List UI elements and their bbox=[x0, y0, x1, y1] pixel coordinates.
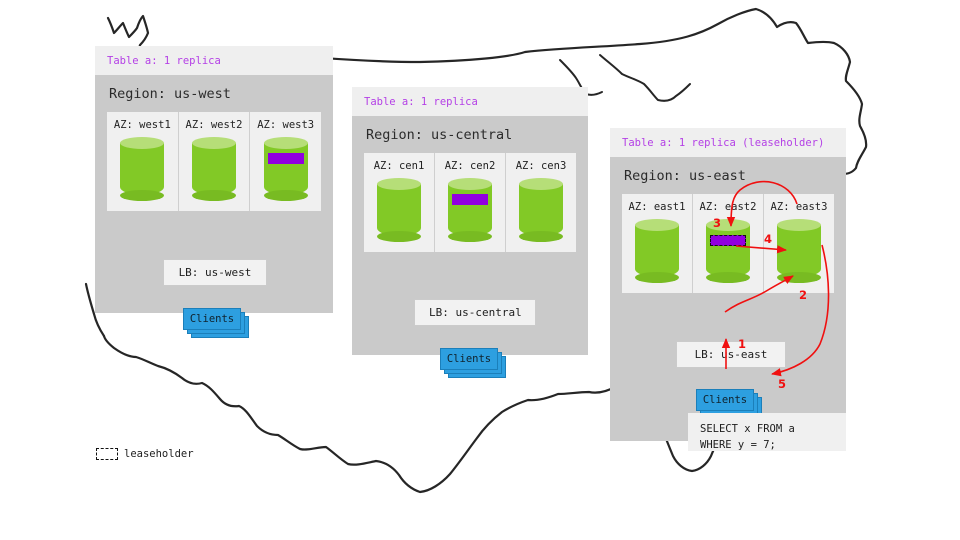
legend-label: leaseholder bbox=[124, 448, 194, 460]
cylinder-body bbox=[120, 143, 164, 195]
cylinder-body bbox=[192, 143, 236, 195]
leaseholder-marker-cen2 bbox=[452, 194, 488, 205]
cylinder-bottom bbox=[377, 231, 421, 242]
cylinder-body bbox=[377, 184, 421, 236]
panel-header-us-east: Table a: 1 replica (leaseholder) bbox=[610, 128, 846, 157]
az-label-east1: AZ: east1 bbox=[622, 201, 692, 213]
legend: leaseholder bbox=[96, 448, 194, 460]
cylinder-top bbox=[777, 219, 821, 231]
node-cylinder-cen3[interactable] bbox=[519, 178, 563, 242]
cylinder-body bbox=[264, 143, 308, 195]
cylinder-bottom bbox=[264, 190, 308, 201]
az-label-west3: AZ: west3 bbox=[250, 119, 321, 131]
az-label-cen1: AZ: cen1 bbox=[364, 160, 434, 172]
node-cylinder-cen1[interactable] bbox=[377, 178, 421, 242]
leaseholder-marker-west3 bbox=[268, 153, 304, 164]
table-replica-label-us-central: Table a: 1 replica bbox=[364, 96, 576, 108]
node-cylinder-east1[interactable] bbox=[635, 219, 679, 283]
az-cell-east3[interactable]: AZ: east3 bbox=[763, 194, 834, 293]
clients-stack-us-east[interactable]: Clients bbox=[696, 389, 758, 413]
panel-header-us-west: Table a: 1 replica bbox=[95, 46, 333, 75]
region-title-us-west: Region: us-west bbox=[95, 75, 333, 112]
step-label-3: 3 bbox=[713, 216, 721, 230]
az-label-west2: AZ: west2 bbox=[179, 119, 250, 131]
az-cell-west3[interactable]: AZ: west3 bbox=[249, 112, 321, 211]
node-cylinder-cen2[interactable] bbox=[448, 178, 492, 242]
clients-label-us-east[interactable]: Clients bbox=[696, 389, 754, 411]
az-label-cen2: AZ: cen2 bbox=[435, 160, 505, 172]
node-cylinder-west3[interactable] bbox=[264, 137, 308, 201]
load-balancer-us-central[interactable]: LB: us-central bbox=[414, 299, 536, 326]
node-cylinder-west2[interactable] bbox=[192, 137, 236, 201]
step-label-2: 2 bbox=[799, 288, 807, 302]
cylinder-body bbox=[777, 225, 821, 277]
cylinder-bottom bbox=[706, 272, 750, 283]
cylinder-bottom bbox=[519, 231, 563, 242]
az-label-west1: AZ: west1 bbox=[107, 119, 178, 131]
cylinder-top bbox=[192, 137, 236, 149]
node-cylinder-west1[interactable] bbox=[120, 137, 164, 201]
clients-label-us-west[interactable]: Clients bbox=[183, 308, 241, 330]
panel-header-us-central: Table a: 1 replica bbox=[352, 87, 588, 116]
clients-stack-us-central[interactable]: Clients bbox=[440, 348, 502, 372]
cylinder-body bbox=[635, 225, 679, 277]
table-replica-label-us-east: Table a: 1 replica (leaseholder) bbox=[622, 137, 834, 149]
region-title-us-east: Region: us-east bbox=[610, 157, 846, 194]
cylinder-top bbox=[264, 137, 308, 149]
cylinder-top bbox=[519, 178, 563, 190]
az-strip-us-central: AZ: cen1 AZ: cen2 bbox=[364, 153, 576, 252]
panel-body-us-east: Region: us-east AZ: east1 AZ: east2 bbox=[610, 157, 846, 441]
load-balancer-us-west[interactable]: LB: us-west bbox=[163, 259, 267, 286]
cylinder-bottom bbox=[635, 272, 679, 283]
region-panel-us-central: Table a: 1 replica Region: us-central AZ… bbox=[352, 87, 588, 355]
leaseholder-marker-east2 bbox=[710, 235, 746, 246]
region-panel-us-east: Table a: 1 replica (leaseholder) Region:… bbox=[610, 128, 846, 441]
cylinder-body bbox=[706, 225, 750, 277]
az-strip-us-west: AZ: west1 AZ: west2 AZ bbox=[107, 112, 321, 211]
az-label-east3: AZ: east3 bbox=[764, 201, 834, 213]
cylinder-bottom bbox=[192, 190, 236, 201]
step-label-4: 4 bbox=[764, 232, 772, 246]
cylinder-top bbox=[377, 178, 421, 190]
diagram-canvas: Table a: 1 replica Region: us-west AZ: w… bbox=[0, 0, 960, 540]
az-cell-west1[interactable]: AZ: west1 bbox=[107, 112, 178, 211]
cylinder-top bbox=[448, 178, 492, 190]
step-label-5: 5 bbox=[778, 377, 786, 391]
az-cell-cen3[interactable]: AZ: cen3 bbox=[505, 153, 576, 252]
az-label-cen3: AZ: cen3 bbox=[506, 160, 576, 172]
sql-query-box: SELECT x FROM a WHERE y = 7; bbox=[688, 413, 846, 451]
panel-body-us-central: Region: us-central AZ: cen1 AZ: cen2 bbox=[352, 116, 588, 355]
cylinder-top bbox=[635, 219, 679, 231]
az-strip-us-east: AZ: east1 AZ: east2 bbox=[622, 194, 834, 293]
clients-label-us-central[interactable]: Clients bbox=[440, 348, 498, 370]
cylinder-bottom bbox=[448, 231, 492, 242]
step-label-1: 1 bbox=[738, 337, 746, 351]
cylinder-body bbox=[448, 184, 492, 236]
cylinder-bottom bbox=[777, 272, 821, 283]
region-panel-us-west: Table a: 1 replica Region: us-west AZ: w… bbox=[95, 46, 333, 313]
cylinder-bottom bbox=[120, 190, 164, 201]
cylinder-top bbox=[120, 137, 164, 149]
table-replica-label-us-west: Table a: 1 replica bbox=[107, 55, 321, 67]
region-title-us-central: Region: us-central bbox=[352, 116, 588, 153]
az-cell-east1[interactable]: AZ: east1 bbox=[622, 194, 692, 293]
cylinder-body bbox=[519, 184, 563, 236]
az-label-east2: AZ: east2 bbox=[693, 201, 763, 213]
panel-body-us-west: Region: us-west AZ: west1 AZ: west2 bbox=[95, 75, 333, 313]
az-cell-cen2[interactable]: AZ: cen2 bbox=[434, 153, 505, 252]
az-cell-east2[interactable]: AZ: east2 bbox=[692, 194, 763, 293]
az-cell-west2[interactable]: AZ: west2 bbox=[178, 112, 250, 211]
clients-stack-us-west[interactable]: Clients bbox=[183, 308, 245, 332]
load-balancer-us-east[interactable]: LB: us-east bbox=[676, 341, 786, 368]
leaseholder-swatch-icon bbox=[96, 448, 118, 460]
az-cell-cen1[interactable]: AZ: cen1 bbox=[364, 153, 434, 252]
node-cylinder-east3[interactable] bbox=[777, 219, 821, 283]
